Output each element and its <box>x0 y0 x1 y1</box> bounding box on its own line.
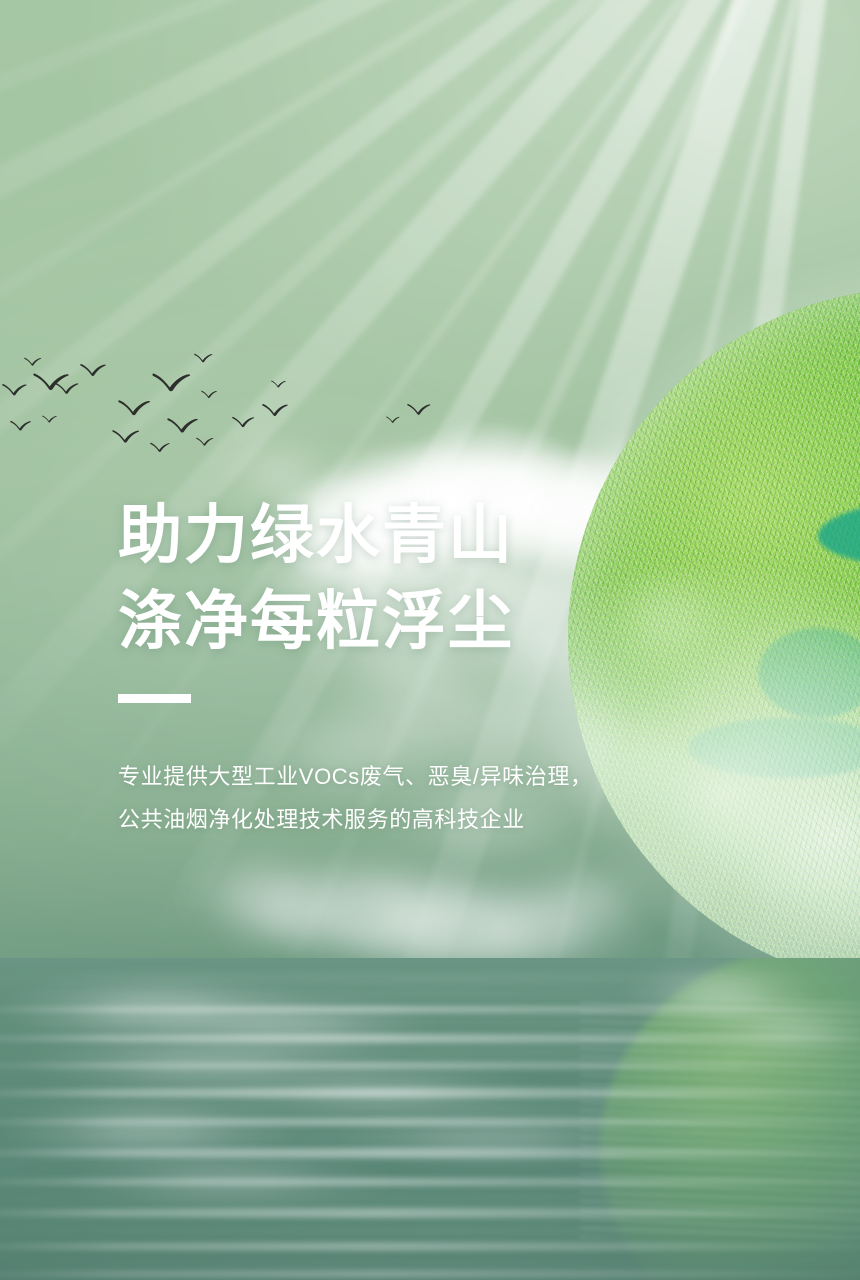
bird-icon <box>112 429 141 444</box>
water-wave <box>0 1242 860 1251</box>
bird-icon <box>55 382 80 395</box>
water-wave <box>0 1006 860 1013</box>
water-wave <box>0 1106 860 1111</box>
water-wave <box>0 1166 860 1171</box>
bird-icon <box>232 416 255 429</box>
bird-icon <box>262 403 289 418</box>
bird-icon <box>80 363 107 378</box>
water-wave <box>0 1020 860 1024</box>
water-wave <box>0 1270 860 1278</box>
water-wave <box>0 1088 860 1098</box>
bird-icon <box>152 372 192 394</box>
water-surface <box>0 958 860 1280</box>
water-wave <box>0 1228 860 1234</box>
bird-icon <box>407 403 432 416</box>
water-wave <box>0 1118 860 1126</box>
bird-icon <box>196 437 214 447</box>
bird-icon <box>24 357 42 367</box>
water-wave <box>0 1062 860 1069</box>
water-wave <box>0 1134 860 1139</box>
water-wave <box>0 1034 860 1043</box>
water-wave <box>0 1196 860 1201</box>
flying-birds-flock <box>0 340 500 470</box>
divider-rule <box>118 694 191 703</box>
bird-icon <box>2 383 28 397</box>
headline-block: 助力绿水青山 涤净每粒浮尘 专业提供大型工业VOCs废气、恶臭/异味治理， 公共… <box>118 492 678 841</box>
bird-icon <box>271 380 287 388</box>
subtitle-line-2: 公共油烟净化处理技术服务的高科技企业 <box>118 798 678 841</box>
water-waves <box>0 958 860 1280</box>
water-wave <box>0 1260 860 1266</box>
bird-icon <box>10 420 32 432</box>
headline-line-1: 助力绿水青山 <box>118 492 678 578</box>
bird-icon <box>150 442 171 453</box>
subtitle-line-1: 专业提供大型工业VOCs废气、恶臭/异味治理， <box>118 755 678 798</box>
water-wave <box>0 1076 860 1080</box>
bird-icon <box>42 415 58 423</box>
bird-icon <box>118 399 152 417</box>
water-wave <box>0 1178 860 1186</box>
bird-icon <box>194 353 214 364</box>
bird-icon <box>201 390 218 399</box>
headline-line-2: 涤净每粒浮尘 <box>118 578 678 664</box>
banner-stage: 助力绿水青山 涤净每粒浮尘 专业提供大型工业VOCs废气、恶臭/异味治理， 公共… <box>0 0 860 1280</box>
bird-icon <box>167 417 200 435</box>
water-wave <box>0 1050 860 1055</box>
water-wave <box>0 1148 860 1158</box>
water-wave <box>0 992 860 996</box>
water-wave <box>0 976 860 981</box>
water-wave <box>0 1208 860 1218</box>
bird-icon <box>386 416 400 424</box>
